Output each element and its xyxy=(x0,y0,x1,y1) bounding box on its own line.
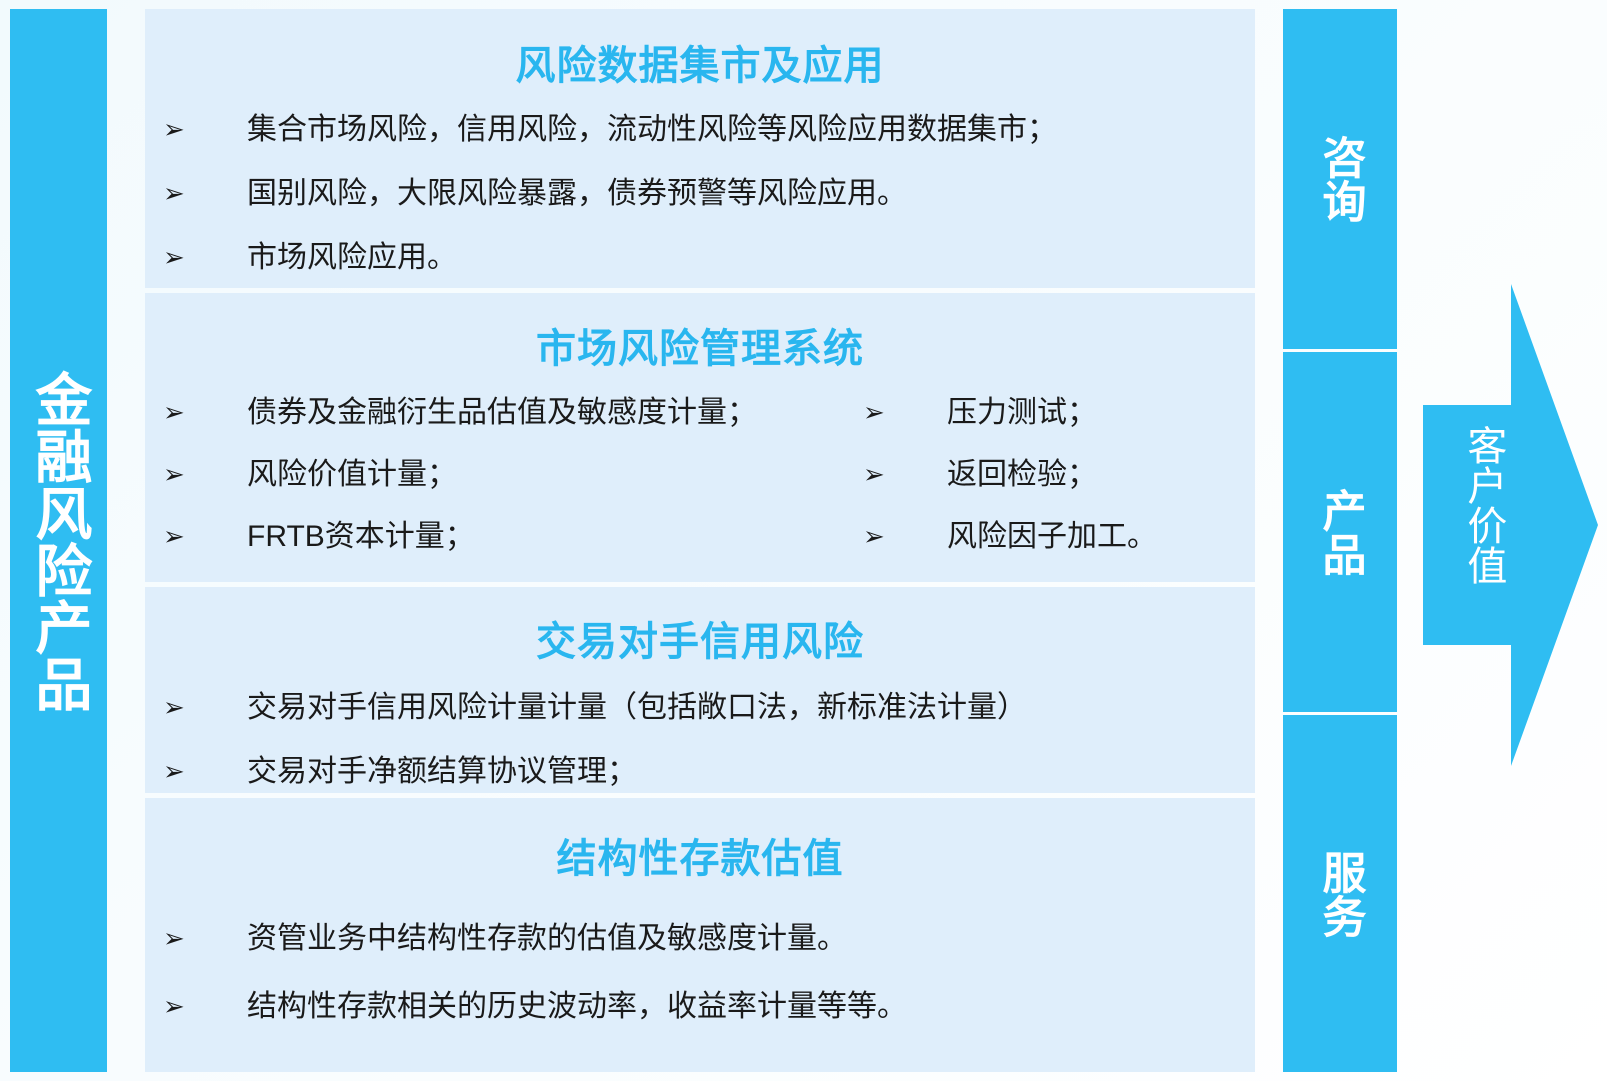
bullet-list: ➢ 交易对手信用风险计量计量（包括敞口法，新标准法计量） ➢ 交易对手净额结算协… xyxy=(145,691,1255,789)
arrow-bullet-icon: ➢ xyxy=(163,396,191,430)
arrow-bullet-icon: ➢ xyxy=(163,458,191,492)
stage-label: 咨询 xyxy=(1314,135,1365,223)
slide-canvas: 金融风险产品 风险数据集市及应用 ➢ 集合市场风险，信用风险，流动性风险等风险应… xyxy=(0,0,1607,1081)
list-item-label: 结构性存款相关的历史波动率，收益率计量等等。 xyxy=(247,990,907,1024)
arrow-bullet-icon: ➢ xyxy=(163,922,191,956)
stage-consulting: 咨询 xyxy=(1283,9,1397,349)
panel-title: 市场风险管理系统 xyxy=(145,316,1255,374)
arrow-bullet-icon: ➢ xyxy=(163,755,191,789)
stage-product: 产品 xyxy=(1283,352,1397,712)
list-item: ➢ 交易对手信用风险计量计量（包括敞口法，新标准法计量） xyxy=(145,691,1255,725)
bullet-list: ➢ 集合市场风险，信用风险，流动性风险等风险应用数据集市； ➢ 国别风险，大限风… xyxy=(145,113,1255,275)
panel-title: 结构性存款估值 xyxy=(145,826,1255,884)
arrow-bullet-icon: ➢ xyxy=(163,691,191,725)
list-item: ➢ 市场风险应用。 xyxy=(145,241,1255,275)
panel-title: 交易对手信用风险 xyxy=(145,609,1255,667)
list-item-label: FRTB资本计量； xyxy=(247,520,475,554)
list-item: ➢ 风险价值计量； xyxy=(145,458,845,492)
stage-service: 服务 xyxy=(1283,715,1397,1072)
bullet-list: ➢ 债券及金融衍生品估值及敏感度计量； ➢ 风险价值计量； ➢ FRTB资本计量… xyxy=(145,396,1255,582)
arrow-bullet-icon: ➢ xyxy=(163,990,191,1024)
list-item-label: 交易对手信用风险计量计量（包括敞口法，新标准法计量） xyxy=(247,691,1027,725)
panel-market-risk-system: 市场风险管理系统 ➢ 债券及金融衍生品估值及敏感度计量； ➢ 风险价值计量； ➢… xyxy=(145,293,1255,582)
list-item: ➢ 压力测试； xyxy=(845,396,1245,430)
bullet-column-right: ➢ 压力测试； ➢ 返回检验； ➢ 风险因子加工。 xyxy=(845,396,1245,582)
stage-label: 服务 xyxy=(1314,850,1365,938)
arrow-bullet-icon: ➢ xyxy=(863,396,891,430)
panel-structured-deposit-valuation: 结构性存款估值 ➢ 资管业务中结构性存款的估值及敏感度计量。 ➢ 结构性存款相关… xyxy=(145,798,1255,1072)
panel-title: 风险数据集市及应用 xyxy=(145,33,1255,91)
list-item-label: 风险因子加工。 xyxy=(947,520,1157,554)
list-item-label: 返回检验； xyxy=(947,458,1097,492)
list-item: ➢ 风险因子加工。 xyxy=(845,520,1245,554)
list-item: ➢ 结构性存款相关的历史波动率，收益率计量等等。 xyxy=(145,990,1255,1024)
list-item-label: 压力测试； xyxy=(947,396,1097,430)
panel-counterparty-credit-risk: 交易对手信用风险 ➢ 交易对手信用风险计量计量（包括敞口法，新标准法计量） ➢ … xyxy=(145,587,1255,793)
list-item-label: 市场风险应用。 xyxy=(247,241,457,275)
content-panels: 风险数据集市及应用 ➢ 集合市场风险，信用风险，流动性风险等风险应用数据集市； … xyxy=(145,9,1255,1072)
arrow-bullet-icon: ➢ xyxy=(863,458,891,492)
list-item-label: 资管业务中结构性存款的估值及敏感度计量。 xyxy=(247,922,847,956)
list-item-label: 债券及金融衍生品估值及敏感度计量； xyxy=(247,396,757,430)
left-brand-bar: 金融风险产品 xyxy=(10,9,107,1072)
bullet-list: ➢ 资管业务中结构性存款的估值及敏感度计量。 ➢ 结构性存款相关的历史波动率，收… xyxy=(145,922,1255,1024)
list-item: ➢ 资管业务中结构性存款的估值及敏感度计量。 xyxy=(145,922,1255,956)
arrow-bullet-icon: ➢ xyxy=(163,177,191,211)
list-item-label: 集合市场风险，信用风险，流动性风险等风险应用数据集市； xyxy=(247,113,1057,147)
panel-risk-data-mart: 风险数据集市及应用 ➢ 集合市场风险，信用风险，流动性风险等风险应用数据集市； … xyxy=(145,9,1255,288)
left-brand-label: 金融风险产品 xyxy=(25,370,92,712)
list-item: ➢ 交易对手净额结算协议管理； xyxy=(145,755,1255,789)
arrow-bullet-icon: ➢ xyxy=(163,520,191,554)
list-item-label: 风险价值计量； xyxy=(247,458,457,492)
bullet-column-left: ➢ 债券及金融衍生品估值及敏感度计量； ➢ 风险价值计量； ➢ FRTB资本计量… xyxy=(145,396,845,582)
arrow-bullet-icon: ➢ xyxy=(163,113,191,147)
list-item: ➢ 集合市场风险，信用风险，流动性风险等风险应用数据集市； xyxy=(145,113,1255,147)
list-item: ➢ 国别风险，大限风险暴露，债券预警等风险应用。 xyxy=(145,177,1255,211)
customer-value-arrow: 客户价值 xyxy=(1415,275,1607,775)
list-item-label: 国别风险，大限风险暴露，债券预警等风险应用。 xyxy=(247,177,907,211)
list-item: ➢ FRTB资本计量； xyxy=(145,520,845,554)
list-item: ➢ 债券及金融衍生品估值及敏感度计量； xyxy=(145,396,845,430)
list-item: ➢ 返回检验； xyxy=(845,458,1245,492)
arrow-bullet-icon: ➢ xyxy=(163,241,191,275)
stage-column: 咨询 产品 服务 xyxy=(1283,9,1397,1072)
arrow-label: 客户价值 xyxy=(1439,425,1527,585)
list-item-label: 交易对手净额结算协议管理； xyxy=(247,755,637,789)
stage-label: 产品 xyxy=(1314,488,1365,576)
arrow-bullet-icon: ➢ xyxy=(863,520,891,554)
